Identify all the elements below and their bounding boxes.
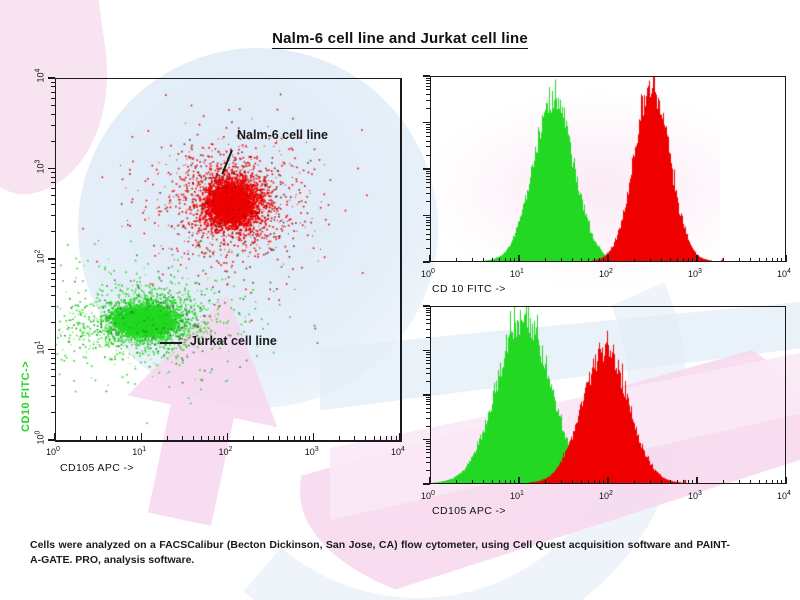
x-axis-minor-tick <box>692 480 693 484</box>
x-axis-minor-tick <box>677 258 678 262</box>
y-axis-major-tick <box>48 77 55 78</box>
x-axis-minor-tick <box>766 258 767 262</box>
y-axis-tick-label: 101 <box>35 336 46 358</box>
x-axis-minor-tick <box>472 480 473 484</box>
y-axis-minor-tick <box>51 286 55 287</box>
y-axis-minor-tick <box>51 273 55 274</box>
x-axis-minor-tick <box>599 480 600 484</box>
x-axis-minor-tick <box>561 480 562 484</box>
x-axis-minor-tick <box>581 258 582 262</box>
y-axis-minor-tick <box>426 155 430 156</box>
x-axis-minor-tick <box>739 480 740 484</box>
y-axis-minor-tick <box>51 125 55 126</box>
y-axis-major-tick <box>423 483 430 484</box>
y-axis-minor-tick <box>51 385 55 386</box>
y-axis-minor-tick <box>426 239 430 240</box>
y-axis-minor-tick <box>426 308 430 309</box>
y-axis-major-tick <box>423 439 430 440</box>
y-axis-minor-tick <box>426 86 430 87</box>
x-axis-minor-tick <box>683 258 684 262</box>
x-axis-minor-tick <box>588 480 589 484</box>
y-axis-minor-tick <box>426 399 430 400</box>
y-axis-minor-tick <box>426 127 430 128</box>
y-axis-minor-tick <box>426 315 430 316</box>
x-axis-tick-label: 102 <box>599 268 613 279</box>
x-axis-minor-tick <box>581 480 582 484</box>
y-axis-minor-tick <box>426 124 430 125</box>
y-axis-minor-tick <box>426 418 430 419</box>
y-axis-minor-tick <box>51 141 55 142</box>
y-axis-minor-tick <box>426 312 430 313</box>
y-axis-minor-tick <box>426 354 430 355</box>
y-axis-minor-tick <box>426 220 430 221</box>
y-axis-tick-label: 103 <box>35 155 46 177</box>
x-axis-minor-tick <box>781 258 782 262</box>
x-axis-minor-tick <box>750 258 751 262</box>
y-axis-minor-tick <box>426 360 430 361</box>
scatter-x-axis-label: CD105 APC -> <box>60 462 134 474</box>
x-axis-minor-tick <box>472 258 473 262</box>
y-axis-minor-tick <box>426 201 430 202</box>
x-axis-minor-tick <box>723 258 724 262</box>
y-axis-minor-tick <box>51 195 55 196</box>
y-axis-minor-tick <box>51 215 55 216</box>
y-axis-minor-tick <box>426 319 430 320</box>
y-axis-minor-tick <box>426 179 430 180</box>
x-axis-tick-label: 100 <box>46 446 60 457</box>
y-axis-tick-label: 100 <box>35 427 46 449</box>
x-axis-minor-tick <box>739 258 740 262</box>
y-axis-minor-tick <box>426 470 430 471</box>
x-axis-minor-tick <box>514 258 515 262</box>
y-axis-minor-tick <box>426 457 430 458</box>
y-axis-minor-tick <box>426 94 430 95</box>
x-axis-minor-tick <box>510 258 511 262</box>
y-axis-minor-tick <box>51 322 55 323</box>
y-axis-minor-tick <box>51 267 55 268</box>
y-axis-minor-tick <box>426 141 430 142</box>
y-axis-minor-tick <box>426 408 430 409</box>
figure-caption: Cells were analyzed on a FACSCalibur (Be… <box>30 538 730 568</box>
x-axis-major-tick <box>518 477 519 484</box>
x-axis-minor-tick <box>661 480 662 484</box>
scatter-points-canvas <box>55 78 400 440</box>
y-axis-tick-label: 102 <box>35 246 46 268</box>
x-axis-major-tick <box>785 255 786 262</box>
y-axis-minor-tick <box>426 80 430 81</box>
y-axis-minor-tick <box>51 177 55 178</box>
y-axis-minor-tick <box>426 78 430 79</box>
x-axis-tick-label: 101 <box>510 490 524 501</box>
x-axis-minor-tick <box>683 480 684 484</box>
histogram-cd105-panel: 100101102103104CD105 APC -> <box>404 298 800 528</box>
y-axis-minor-tick <box>51 105 55 106</box>
x-axis-minor-tick <box>650 480 651 484</box>
x-axis-major-tick <box>696 477 697 484</box>
x-axis-minor-tick <box>688 258 689 262</box>
y-axis-minor-tick <box>51 353 55 354</box>
annotation-nalm6-label: Nalm-6 cell line <box>237 128 328 142</box>
x-axis-minor-tick <box>766 480 767 484</box>
y-axis-minor-tick <box>51 358 55 359</box>
histogram-cd105-x-axis-label: CD105 APC -> <box>432 505 506 517</box>
x-axis-minor-tick <box>772 258 773 262</box>
x-axis-minor-tick <box>456 258 457 262</box>
y-axis-major-tick <box>423 305 430 306</box>
x-axis-minor-tick <box>572 480 573 484</box>
x-axis-minor-tick <box>594 258 595 262</box>
y-axis-minor-tick <box>426 404 430 405</box>
y-axis-major-tick <box>48 439 55 440</box>
x-axis-minor-tick <box>599 258 600 262</box>
y-axis-major-tick <box>423 394 430 395</box>
y-axis-minor-tick <box>426 462 430 463</box>
y-axis-minor-tick <box>426 401 430 402</box>
x-axis-major-tick <box>313 433 314 440</box>
x-axis-tick-label: 102 <box>599 490 613 501</box>
x-axis-minor-tick <box>603 258 604 262</box>
y-axis-minor-tick <box>426 452 430 453</box>
y-axis-major-tick <box>423 75 430 76</box>
y-axis-major-tick <box>423 261 430 262</box>
y-axis-major-tick <box>48 168 55 169</box>
x-axis-major-tick <box>785 477 786 484</box>
figure-root: Nalm-6 cell line and Jurkat cell line 10… <box>0 0 800 600</box>
scatter-plot-panel: 100101102103104100101102103104CD105 APC … <box>0 0 420 520</box>
x-axis-tick-label: 101 <box>132 446 146 457</box>
x-axis-minor-tick <box>634 480 635 484</box>
y-axis-major-tick <box>48 349 55 350</box>
y-axis-minor-tick <box>426 89 430 90</box>
x-axis-minor-tick <box>545 480 546 484</box>
y-axis-minor-tick <box>51 86 55 87</box>
x-axis-minor-tick <box>634 258 635 262</box>
y-axis-major-tick <box>423 122 430 123</box>
y-axis-tick-label: 104 <box>35 65 46 87</box>
y-axis-minor-tick <box>426 83 430 84</box>
annotation-jurkat-label: Jurkat cell line <box>190 334 277 348</box>
y-axis-minor-tick <box>426 441 430 442</box>
y-axis-minor-tick <box>51 412 55 413</box>
y-axis-minor-tick <box>51 82 55 83</box>
y-axis-minor-tick <box>51 98 55 99</box>
y-axis-minor-tick <box>426 229 430 230</box>
x-axis-tick-label: 103 <box>305 446 319 457</box>
x-axis-minor-tick <box>514 480 515 484</box>
x-axis-minor-tick <box>688 480 689 484</box>
x-axis-major-tick <box>227 433 228 440</box>
y-axis-minor-tick <box>426 132 430 133</box>
x-axis-major-tick <box>696 255 697 262</box>
histogram-cd10-panel: 100101102103104CD 10 FITC -> <box>404 68 800 306</box>
y-axis-minor-tick <box>426 129 430 130</box>
x-axis-tick-label: 101 <box>510 268 524 279</box>
scatter-y-right-line <box>400 78 402 440</box>
x-axis-minor-tick <box>588 258 589 262</box>
y-axis-minor-tick <box>426 173 430 174</box>
x-axis-minor-tick <box>781 480 782 484</box>
y-axis-minor-tick <box>426 225 430 226</box>
y-axis-minor-tick <box>426 352 430 353</box>
x-axis-minor-tick <box>499 258 500 262</box>
x-axis-tick-label: 104 <box>391 446 405 457</box>
x-axis-major-tick <box>607 255 608 262</box>
x-axis-minor-tick <box>670 480 671 484</box>
x-axis-major-tick <box>518 255 519 262</box>
x-axis-minor-tick <box>505 258 506 262</box>
y-axis-minor-tick <box>426 222 430 223</box>
x-axis-minor-tick <box>777 258 778 262</box>
x-axis-minor-tick <box>545 258 546 262</box>
y-axis-major-tick <box>48 258 55 259</box>
x-axis-minor-tick <box>670 258 671 262</box>
y-axis-minor-tick <box>51 172 55 173</box>
y-axis-minor-tick <box>51 92 55 93</box>
y-axis-minor-tick <box>426 100 430 101</box>
x-axis-tick-label: 100 <box>421 490 435 501</box>
y-axis-minor-tick <box>426 373 430 374</box>
y-axis-minor-tick <box>51 263 55 264</box>
x-axis-major-tick <box>141 433 142 440</box>
x-axis-tick-label: 104 <box>777 490 791 501</box>
x-axis-minor-tick <box>650 258 651 262</box>
histogram-cd10-canvas <box>431 77 785 261</box>
y-axis-minor-tick <box>426 176 430 177</box>
x-axis-minor-tick <box>772 480 773 484</box>
y-axis-minor-tick <box>51 396 55 397</box>
x-axis-minor-tick <box>677 480 678 484</box>
x-axis-major-tick <box>607 477 608 484</box>
y-axis-minor-tick <box>51 279 55 280</box>
histogram-cd10-x-axis-label: CD 10 FITC -> <box>432 283 506 295</box>
y-axis-minor-tick <box>426 182 430 183</box>
y-axis-minor-tick <box>51 204 55 205</box>
x-axis-minor-tick <box>492 258 493 262</box>
x-axis-minor-tick <box>499 480 500 484</box>
y-axis-minor-tick <box>426 381 430 382</box>
y-axis-minor-tick <box>51 188 55 189</box>
x-axis-minor-tick <box>510 480 511 484</box>
y-axis-minor-tick <box>426 248 430 249</box>
y-axis-minor-tick <box>426 363 430 364</box>
y-axis-major-tick <box>423 168 430 169</box>
y-axis-major-tick <box>423 215 430 216</box>
x-axis-minor-tick <box>492 480 493 484</box>
y-axis-minor-tick <box>51 182 55 183</box>
y-axis-minor-tick <box>426 136 430 137</box>
x-axis-minor-tick <box>661 258 662 262</box>
y-axis-minor-tick <box>51 295 55 296</box>
x-axis-minor-tick <box>561 258 562 262</box>
x-axis-tick-label: 103 <box>688 490 702 501</box>
y-axis-minor-tick <box>426 193 430 194</box>
x-axis-tick-label: 100 <box>421 268 435 279</box>
y-axis-minor-tick <box>426 446 430 447</box>
y-axis-minor-tick <box>51 306 55 307</box>
y-axis-minor-tick <box>51 376 55 377</box>
y-axis-minor-tick <box>51 369 55 370</box>
x-axis-minor-tick <box>505 480 506 484</box>
y-axis-minor-tick <box>426 310 430 311</box>
y-axis-minor-tick <box>426 337 430 338</box>
scatter-y-axis-label: CD10 FITC-> <box>20 361 32 432</box>
x-axis-minor-tick <box>759 258 760 262</box>
x-axis-minor-tick <box>723 480 724 484</box>
y-axis-minor-tick <box>426 187 430 188</box>
y-axis-minor-tick <box>426 443 430 444</box>
y-axis-minor-tick <box>426 357 430 358</box>
scatter-x-axis-line <box>55 440 402 442</box>
y-axis-minor-tick <box>426 329 430 330</box>
y-axis-minor-tick <box>426 368 430 369</box>
x-axis-minor-tick <box>456 480 457 484</box>
y-axis-minor-tick <box>51 231 55 232</box>
x-axis-minor-tick <box>594 480 595 484</box>
histogram-cd105-canvas <box>431 307 785 483</box>
y-axis-minor-tick <box>426 412 430 413</box>
annotation-jurkat-leader <box>160 342 182 344</box>
y-axis-minor-tick <box>51 363 55 364</box>
x-axis-minor-tick <box>572 258 573 262</box>
y-axis-minor-tick <box>426 108 430 109</box>
x-axis-tick-label: 104 <box>777 268 791 279</box>
y-axis-minor-tick <box>426 171 430 172</box>
x-axis-minor-tick <box>483 258 484 262</box>
x-axis-minor-tick <box>777 480 778 484</box>
x-axis-minor-tick <box>483 480 484 484</box>
x-axis-tick-label: 102 <box>219 446 233 457</box>
y-axis-major-tick <box>423 350 430 351</box>
x-axis-minor-tick <box>603 480 604 484</box>
x-axis-minor-tick <box>759 480 760 484</box>
y-axis-minor-tick <box>426 323 430 324</box>
y-axis-minor-tick <box>426 397 430 398</box>
y-axis-minor-tick <box>426 234 430 235</box>
x-axis-minor-tick <box>692 258 693 262</box>
x-axis-tick-label: 103 <box>688 268 702 279</box>
y-axis-minor-tick <box>51 114 55 115</box>
y-axis-minor-tick <box>426 217 430 218</box>
x-axis-minor-tick <box>750 480 751 484</box>
y-axis-minor-tick <box>426 426 430 427</box>
y-axis-minor-tick <box>426 449 430 450</box>
y-axis-minor-tick <box>426 146 430 147</box>
